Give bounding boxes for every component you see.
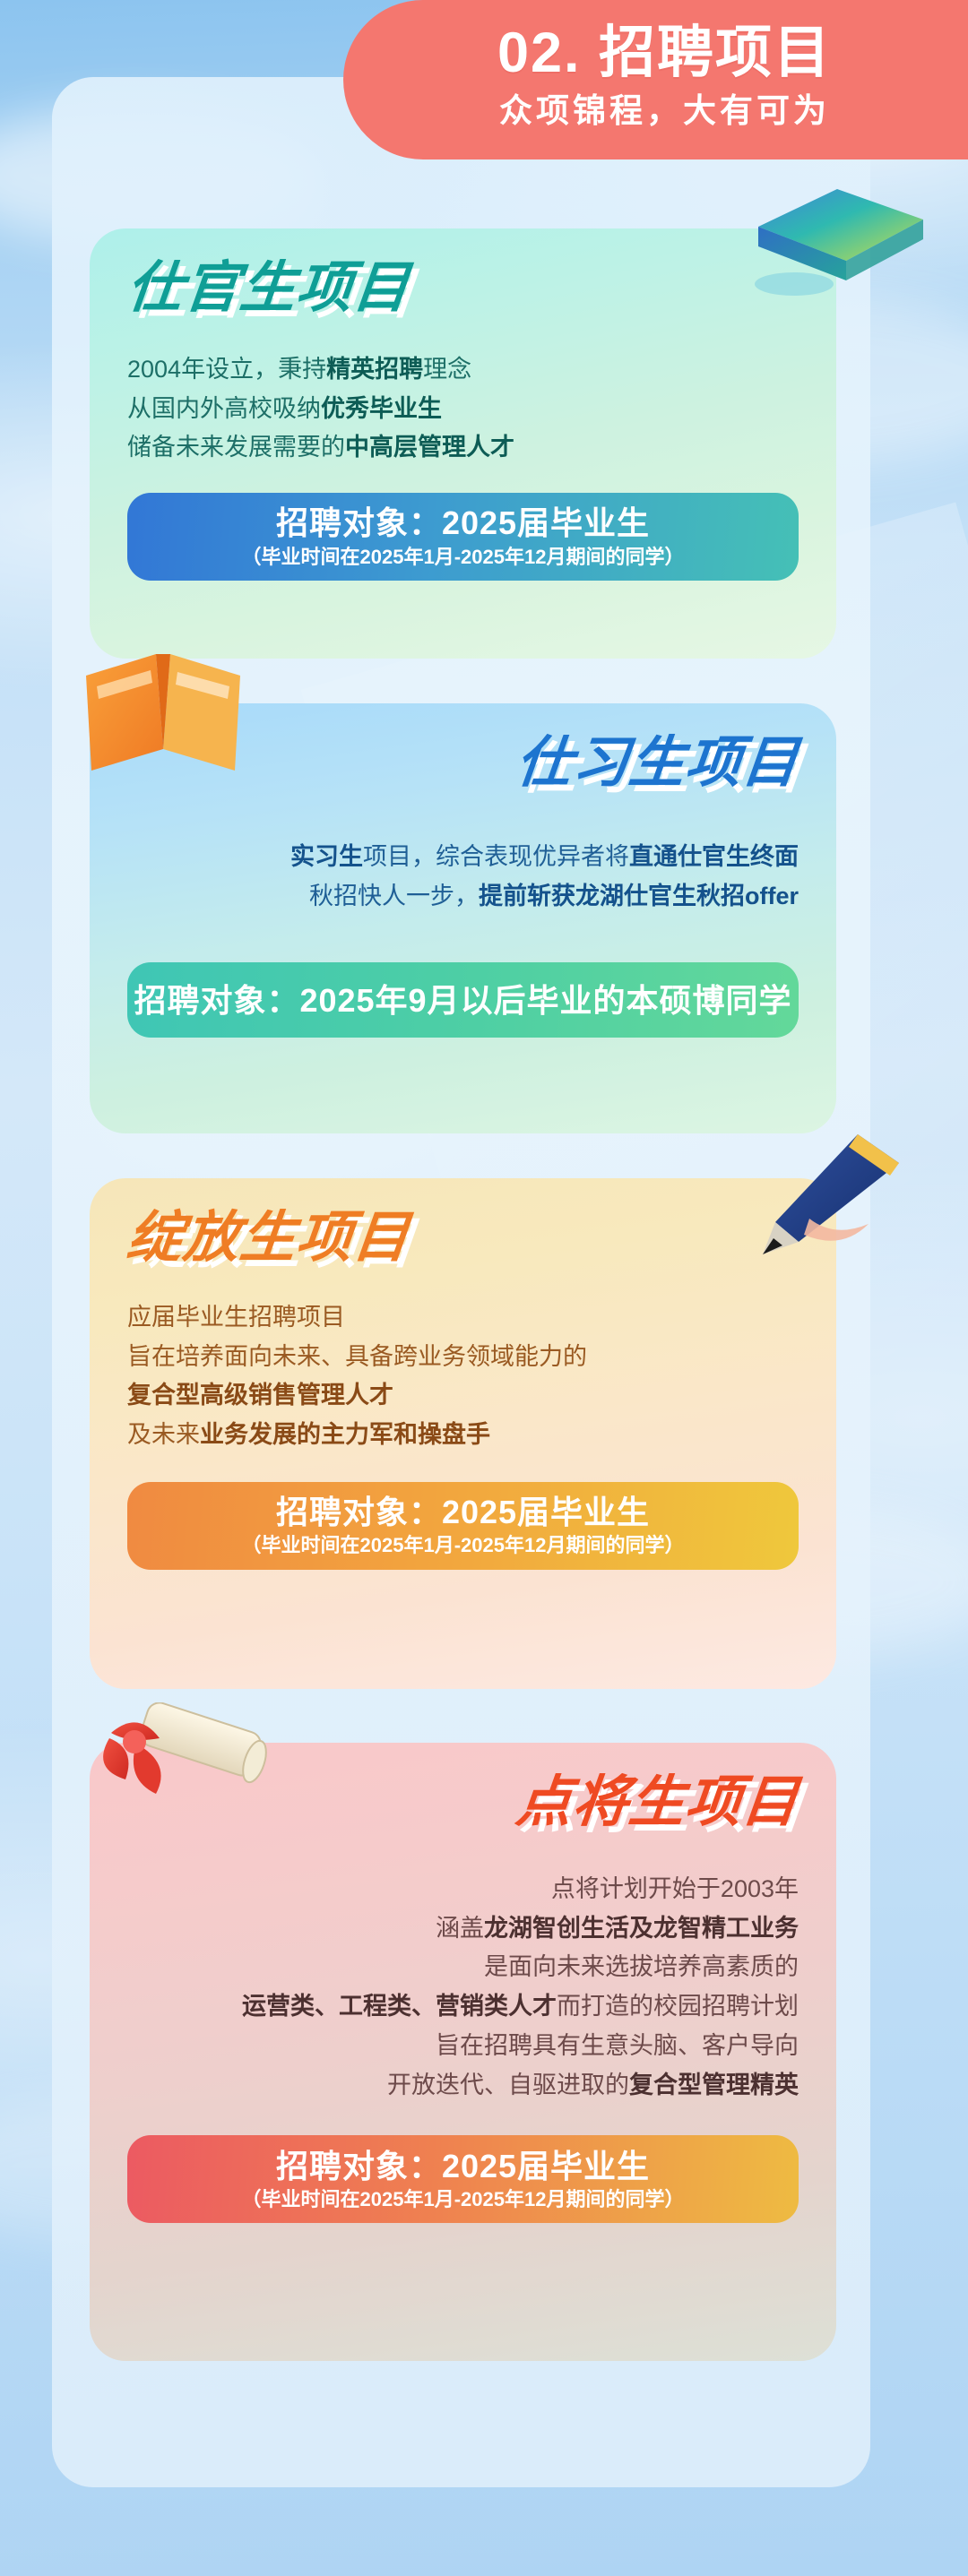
card-title: 仕习生项目 — [125, 736, 802, 791]
banner-subtitle: 众项锦程，大有可为 — [499, 91, 830, 131]
body-line: 点将计划开始于2003年 — [127, 1870, 799, 1909]
body-line: 复合型高级销售管理人才 — [127, 1376, 799, 1416]
plain-text: 而打造的校园招聘计划 — [557, 1993, 799, 2020]
plain-text: 秋招快人一步， — [309, 883, 479, 909]
body-line: 涵盖龙湖智创生活及龙智精工业务 — [127, 1909, 799, 1949]
body-line: 是面向未来选拔培养高素质的 — [127, 1948, 799, 1987]
emphasis-text: 提前斩获龙湖仕官生秋招offer — [479, 883, 799, 909]
plain-text: 理念 — [423, 356, 471, 383]
program-card-dianjiangsheng: 点将生项目 点将计划开始于2003年涵盖龙湖智创生活及龙智精工业务是面向未来选拔… — [90, 1743, 836, 2361]
target-audience-pill: 招聘对象：2025年9月以后毕业的本硕博同学 — [127, 962, 799, 1038]
pill-main-text: 招聘对象：2025届毕业生 — [276, 504, 650, 542]
plain-text: 从国内外高校吸纳 — [127, 395, 321, 422]
card-title: 绽放生项目 — [125, 1210, 802, 1266]
emphasis-text: 复合型高级销售管理人才 — [127, 1382, 393, 1409]
plain-text: 及未来 — [127, 1421, 200, 1448]
body-line: 从国内外高校吸纳优秀毕业生 — [127, 390, 799, 429]
emphasis-text: 优秀毕业生 — [321, 395, 442, 422]
body-line: 开放迭代、自驱进取的复合型管理精英 — [127, 2066, 799, 2106]
target-audience-pill: 招聘对象：2025届毕业生 （毕业时间在2025年1月-2025年12月期间的同… — [127, 1482, 799, 1570]
plain-text: 涵盖 — [436, 1915, 484, 1942]
emphasis-text: 中高层管理人才 — [345, 434, 514, 461]
plain-text: 储备未来发展需要的 — [127, 434, 345, 461]
card-title: 点将生项目 — [125, 1775, 802, 1831]
body-line: 运营类、工程类、营销类人才而打造的校园招聘计划 — [127, 1987, 799, 2027]
section-banner: 02. 招聘项目 众项锦程，大有可为 — [343, 0, 968, 159]
body-line: 旨在培养面向未来、具备跨业务领域能力的 — [127, 1338, 799, 1377]
card-body: 点将计划开始于2003年涵盖龙湖智创生活及龙智精工业务是面向未来选拔培养高素质的… — [127, 1870, 799, 2105]
plain-text: 是面向未来选拔培养高素质的 — [484, 1953, 799, 1980]
program-card-shiguansheng: 仕官生项目 2004年设立，秉持精英招聘理念从国内外高校吸纳优秀毕业生储备未来发… — [90, 228, 836, 659]
plain-text: 2004年设立，秉持 — [127, 356, 326, 383]
body-line: 实习生项目，综合表现优异者将直通仕官生终面 — [127, 838, 799, 877]
pill-sub-text: （毕业时间在2025年1月-2025年12月期间的同学） — [242, 2187, 685, 2213]
emphasis-text: 实习生 — [290, 843, 363, 870]
plain-text: 项目，综合表现优异者将 — [363, 843, 629, 870]
card-body: 2004年设立，秉持精英招聘理念从国内外高校吸纳优秀毕业生储备未来发展需要的中高… — [127, 350, 799, 468]
plain-text: 旨在招聘具有生意头脑、客户导向 — [436, 2032, 799, 2059]
body-line: 储备未来发展需要的中高层管理人才 — [127, 428, 799, 468]
body-line: 2004年设立，秉持精英招聘理念 — [127, 350, 799, 390]
body-line: 及未来业务发展的主力军和操盘手 — [127, 1416, 799, 1455]
card-title: 仕官生项目 — [125, 261, 802, 316]
pill-sub-text: （毕业时间在2025年1月-2025年12月期间的同学） — [242, 545, 685, 571]
banner-title: 02. 招聘项目 — [497, 23, 832, 83]
plain-text: 点将计划开始于2003年 — [551, 1875, 799, 1902]
emphasis-text: 精英招聘 — [326, 356, 423, 383]
program-card-zhanfangsheng: 绽放生项目 应届毕业生招聘项目旨在培养面向未来、具备跨业务领域能力的复合型高级销… — [90, 1178, 836, 1689]
poster-page: 02. 招聘项目 众项锦程，大有可为 — [0, 0, 968, 2576]
emphasis-text: 运营类、工程类、营销类人才 — [242, 1993, 557, 2020]
target-audience-pill: 招聘对象：2025届毕业生 （毕业时间在2025年1月-2025年12月期间的同… — [127, 493, 799, 581]
emphasis-text: 直通仕官生终面 — [629, 843, 799, 870]
pill-main-text: 招聘对象：2025年9月以后毕业的本硕博同学 — [134, 981, 791, 1020]
pill-main-text: 招聘对象：2025届毕业生 — [276, 1493, 650, 1531]
body-line: 旨在招聘具有生意头脑、客户导向 — [127, 2027, 799, 2066]
body-line: 应届毕业生招聘项目 — [127, 1298, 799, 1338]
emphasis-text: 业务发展的主力军和操盘手 — [200, 1421, 490, 1448]
plain-text: 旨在培养面向未来、具备跨业务领域能力的 — [127, 1343, 587, 1370]
emphasis-text: 龙湖智创生活及龙智精工业务 — [484, 1915, 799, 1942]
card-body: 应届毕业生招聘项目旨在培养面向未来、具备跨业务领域能力的复合型高级销售管理人才及… — [127, 1298, 799, 1455]
plain-text: 开放迭代、自驱进取的 — [387, 2072, 629, 2098]
pill-main-text: 招聘对象：2025届毕业生 — [276, 2147, 650, 2185]
program-card-shixisheng: 仕习生项目 实习生项目，综合表现优异者将直通仕官生终面秋招快人一步，提前斩获龙湖… — [90, 703, 836, 1133]
plain-text: 应届毕业生招聘项目 — [127, 1304, 345, 1331]
body-line: 秋招快人一步，提前斩获龙湖仕官生秋招offer — [127, 877, 799, 917]
emphasis-text: 复合型管理精英 — [629, 2072, 799, 2098]
card-body: 实习生项目，综合表现优异者将直通仕官生终面秋招快人一步，提前斩获龙湖仕官生秋招o… — [127, 838, 799, 916]
target-audience-pill: 招聘对象：2025届毕业生 （毕业时间在2025年1月-2025年12月期间的同… — [127, 2135, 799, 2223]
pill-sub-text: （毕业时间在2025年1月-2025年12月期间的同学） — [242, 1533, 685, 1559]
